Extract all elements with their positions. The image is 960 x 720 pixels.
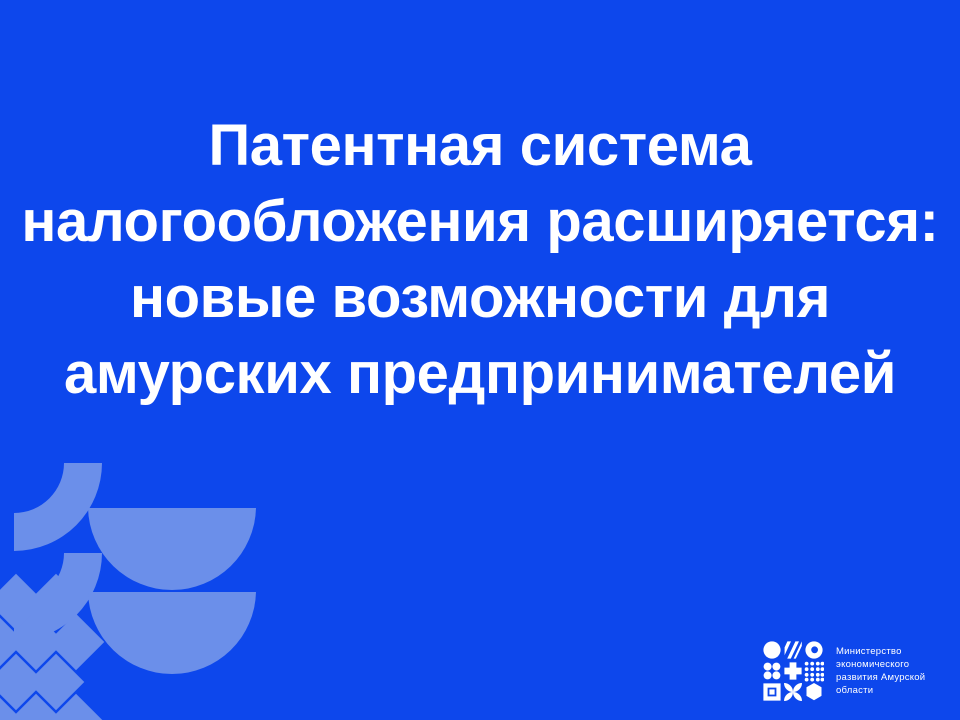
- dot-grid-icon: [805, 662, 824, 682]
- title-line-4: амурских предпринимателей: [0, 336, 960, 412]
- logo-text-line-2: экономического: [836, 658, 952, 671]
- circle-icon: [763, 641, 780, 658]
- logo-text-line-4: области: [836, 684, 952, 697]
- leaf-petal-lower-right: [172, 592, 256, 674]
- circle-notch-icon: [805, 641, 822, 658]
- diagonal-stripes-icon: [785, 641, 802, 658]
- diamond-checkerboard: [0, 574, 104, 720]
- crescent-arc-lower: [0, 553, 102, 641]
- page-title: Патентная система налогообложения расшир…: [0, 108, 960, 412]
- presentation-slide: Патентная система налогообложения расшир…: [0, 0, 960, 720]
- ministry-logo-text: Министерство экономического развития Аму…: [836, 645, 952, 697]
- leaf-cluster: [88, 508, 256, 674]
- crescent-arc-upper: [0, 463, 102, 551]
- logo-text-line-3: развития Амурской: [836, 671, 952, 684]
- ministry-logo: Министерство экономического развития Аму…: [762, 634, 952, 708]
- title-line-1: Патентная система: [0, 108, 960, 184]
- plus-cross-icon: [784, 662, 801, 679]
- hexagon-icon: [807, 683, 822, 700]
- title-line-2: налогообложения расширяется:: [0, 184, 960, 260]
- logo-text-line-1: Министерство: [836, 645, 952, 658]
- ministry-logo-mark: [762, 640, 824, 702]
- square-outline-icon: [763, 683, 780, 700]
- leaf-petal-upper-right: [172, 508, 256, 590]
- leaf-petal-upper-left: [88, 508, 172, 590]
- leaf-petal-lower-left: [88, 592, 172, 674]
- four-dots-icon: [764, 663, 781, 680]
- x-pinwheel-icon: [784, 683, 802, 701]
- title-line-3: новые возможности для: [0, 260, 960, 336]
